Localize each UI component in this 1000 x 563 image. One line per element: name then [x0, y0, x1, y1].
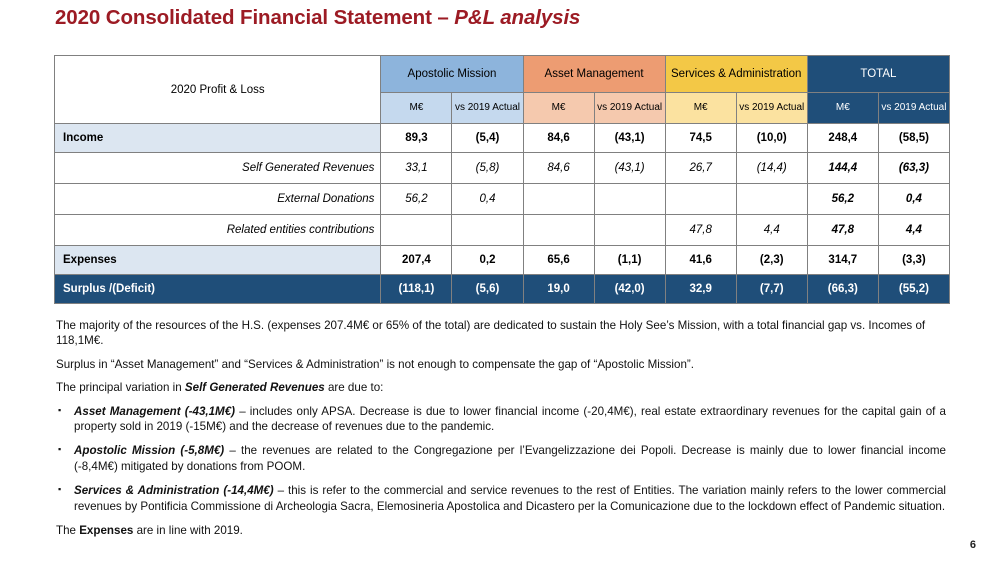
cell-total-value: 56,2 [807, 184, 878, 215]
table-corner-label: 2020 Profit & Loss [55, 56, 381, 124]
cell-sa-value: 47,8 [665, 215, 736, 246]
row-label: Self Generated Revenues [55, 153, 381, 184]
cell-am-value: 56,2 [381, 184, 452, 215]
square-bullet-icon: ▪ [58, 443, 61, 456]
cell-am-value: 33,1 [381, 153, 452, 184]
cell-total-variance: (58,5) [878, 124, 949, 153]
cell-am-variance: (5,6) [452, 275, 523, 304]
page-title: 2020 Consolidated Financial Statement – … [55, 6, 580, 30]
cell-sa-variance: 4,4 [736, 215, 807, 246]
cell-sa-variance: (7,7) [736, 275, 807, 304]
bullet-lead-asset-management: Asset Management (-43,1M€) [74, 405, 235, 418]
cell-as-value [523, 184, 594, 215]
subheader-as-variance: vs 2019 Actual [594, 93, 665, 124]
table-row: Related entities contributions 47,8 4,4 … [55, 215, 950, 246]
square-bullet-icon: ▪ [58, 483, 61, 496]
cell-sa-variance: (14,4) [736, 153, 807, 184]
commentary-section: The majority of the resources of the H.S… [56, 318, 946, 546]
cell-as-variance: (43,1) [594, 124, 665, 153]
cell-am-value: 207,4 [381, 246, 452, 275]
subheader-sa-value: M€ [665, 93, 736, 124]
page-number: 6 [970, 539, 976, 551]
cell-total-variance: (63,3) [878, 153, 949, 184]
expenses-note-pre: The [56, 524, 79, 537]
page-title-main: 2020 Consolidated Financial Statement – [55, 6, 454, 29]
table-row: External Donations 56,2 0,4 56,2 0,4 [55, 184, 950, 215]
cell-as-variance: (43,1) [594, 153, 665, 184]
variation-intro-term: Self Generated Revenues [185, 381, 325, 394]
table-row: Self Generated Revenues 33,1 (5,8) 84,6 … [55, 153, 950, 184]
cell-sa-value: 32,9 [665, 275, 736, 304]
cell-total-variance: (55,2) [878, 275, 949, 304]
cell-am-variance: (5,4) [452, 124, 523, 153]
row-label: Related entities contributions [55, 215, 381, 246]
square-bullet-icon: ▪ [58, 404, 61, 417]
cell-as-value: 84,6 [523, 124, 594, 153]
column-group-services-administration: Services & Administration [665, 56, 807, 93]
cell-as-variance: (1,1) [594, 246, 665, 275]
cell-as-value: 65,6 [523, 246, 594, 275]
cell-total-variance: 0,4 [878, 184, 949, 215]
cell-sa-variance: (2,3) [736, 246, 807, 275]
paragraph-resources: The majority of the resources of the H.S… [56, 318, 946, 349]
column-group-apostolic-mission: Apostolic Mission [381, 56, 523, 93]
subheader-am-variance: vs 2019 Actual [452, 93, 523, 124]
cell-am-variance: 0,2 [452, 246, 523, 275]
cell-as-variance [594, 184, 665, 215]
cell-as-value: 19,0 [523, 275, 594, 304]
table-row: Income 89,3 (5,4) 84,6 (43,1) 74,5 (10,0… [55, 124, 950, 153]
cell-total-value: 314,7 [807, 246, 878, 275]
profit-and-loss-table: 2020 Profit & Loss Apostolic Mission Ass… [54, 55, 950, 304]
cell-as-value [523, 215, 594, 246]
cell-am-variance: (5,8) [452, 153, 523, 184]
page-title-italic: P&L analysis [454, 6, 580, 29]
cell-sa-value: 41,6 [665, 246, 736, 275]
paragraph-expenses-note: The Expenses are in line with 2019. [56, 523, 946, 538]
cell-as-value: 84,6 [523, 153, 594, 184]
row-label: Expenses [55, 246, 381, 275]
variation-intro-pre: The principal variation in [56, 381, 185, 394]
cell-total-variance: 4,4 [878, 215, 949, 246]
cell-sa-value: 26,7 [665, 153, 736, 184]
cell-total-value: 144,4 [807, 153, 878, 184]
row-label: Surplus /(Deficit) [55, 275, 381, 304]
cell-total-value: (66,3) [807, 275, 878, 304]
subheader-total-value: M€ [807, 93, 878, 124]
row-label: External Donations [55, 184, 381, 215]
cell-total-value: 248,4 [807, 124, 878, 153]
expenses-note-post: are in line with 2019. [133, 524, 243, 537]
cell-as-variance [594, 215, 665, 246]
paragraph-variation-intro: The principal variation in Self Generate… [56, 380, 946, 395]
list-item: ▪Services & Administration (-14,4M€) – t… [56, 483, 946, 514]
bullet-lead-apostolic-mission: Apostolic Mission (-5,8M€) [74, 444, 224, 457]
table-group-header-row: 2020 Profit & Loss Apostolic Mission Ass… [55, 56, 950, 93]
subheader-sa-variance: vs 2019 Actual [736, 93, 807, 124]
column-group-asset-management: Asset Management [523, 56, 665, 93]
cell-am-value: 89,3 [381, 124, 452, 153]
column-group-total: TOTAL [807, 56, 949, 93]
cell-sa-variance [736, 184, 807, 215]
cell-am-value: (118,1) [381, 275, 452, 304]
paragraph-surplus-note: Surplus in “Asset Management” and “Servi… [56, 357, 946, 372]
cell-sa-value: 74,5 [665, 124, 736, 153]
cell-total-value: 47,8 [807, 215, 878, 246]
variation-intro-post: are due to: [325, 381, 384, 394]
cell-am-variance: 0,4 [452, 184, 523, 215]
expenses-note-term: Expenses [79, 524, 133, 537]
subheader-as-value: M€ [523, 93, 594, 124]
cell-as-variance: (42,0) [594, 275, 665, 304]
bullet-lead-services-administration: Services & Administration (-14,4M€) [74, 484, 274, 497]
cell-sa-value [665, 184, 736, 215]
table-row: Expenses 207,4 0,2 65,6 (1,1) 41,6 (2,3)… [55, 246, 950, 275]
subheader-am-value: M€ [381, 93, 452, 124]
subheader-total-variance: vs 2019 Actual [878, 93, 949, 124]
cell-sa-variance: (10,0) [736, 124, 807, 153]
cell-total-variance: (3,3) [878, 246, 949, 275]
cell-am-variance [452, 215, 523, 246]
row-label: Income [55, 124, 381, 153]
list-item: ▪Apostolic Mission (-5,8M€) – the revenu… [56, 443, 946, 474]
table-row-surplus: Surplus /(Deficit) (118,1) (5,6) 19,0 (4… [55, 275, 950, 304]
cell-am-value [381, 215, 452, 246]
list-item: ▪Asset Management (-43,1M€) – includes o… [56, 404, 946, 435]
variation-bullet-list: ▪Asset Management (-43,1M€) – includes o… [56, 404, 946, 514]
